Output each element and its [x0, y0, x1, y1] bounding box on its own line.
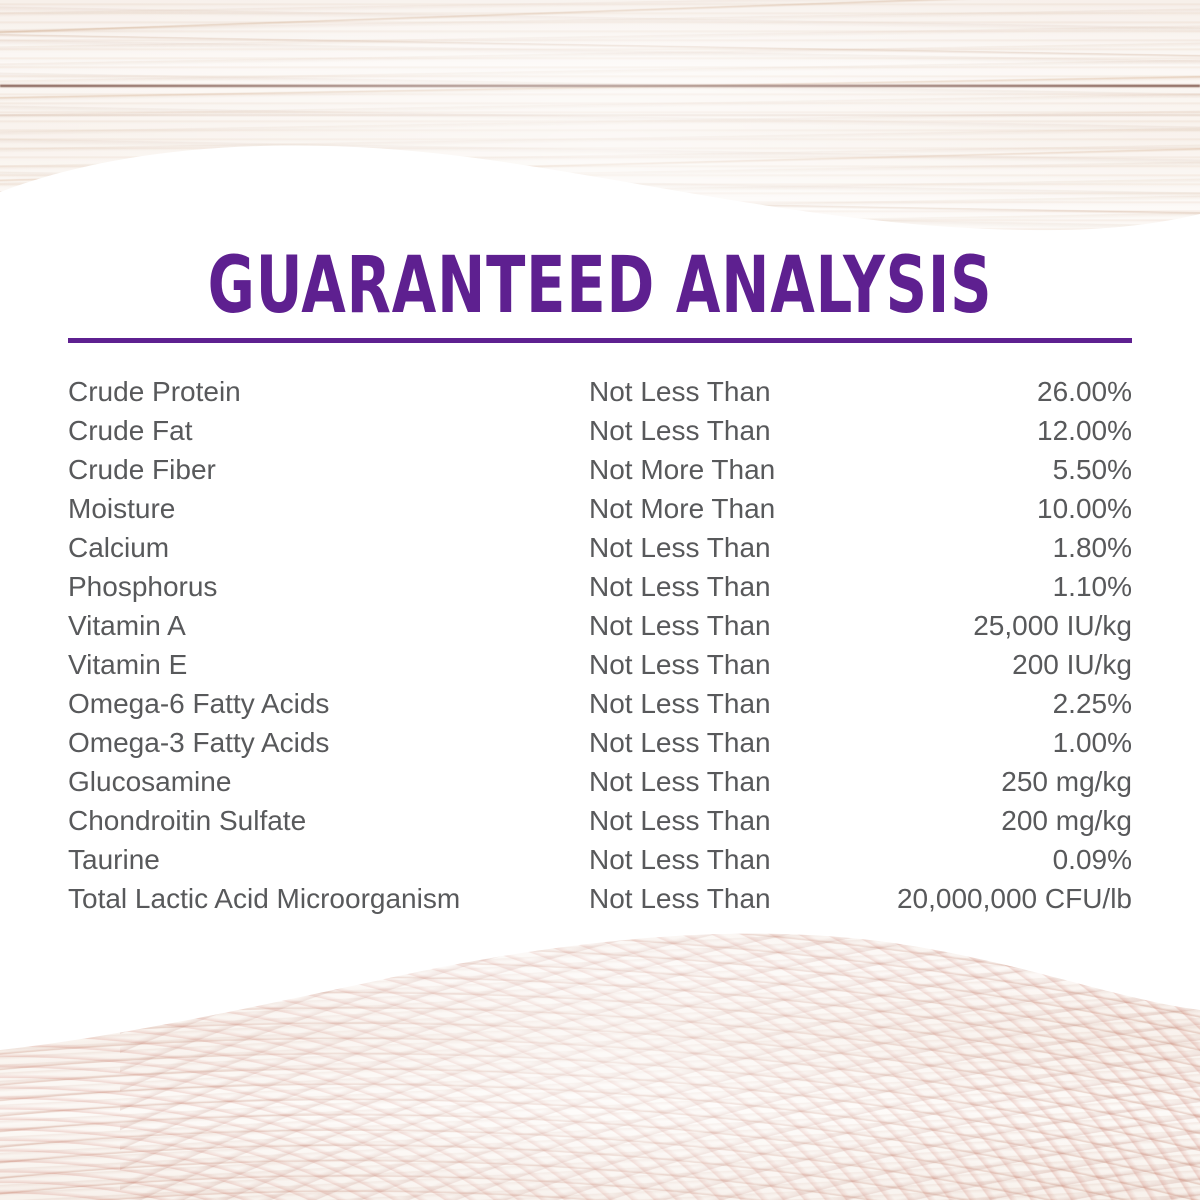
table-row: Omega-3 Fatty AcidsNot Less Than1.00%: [68, 723, 1132, 762]
table-row: Crude FatNot Less Than12.00%: [68, 411, 1132, 450]
nutrient-qualifier: Not Less Than: [589, 840, 879, 879]
table-row: CalciumNot Less Than1.80%: [68, 528, 1132, 567]
nutrient-value: 200 mg/kg: [879, 801, 1132, 840]
table-row: Crude FiberNot More Than5.50%: [68, 450, 1132, 489]
nutrient-qualifier: Not Less Than: [589, 723, 879, 762]
nutrient-qualifier: Not Less Than: [589, 684, 879, 723]
nutrient-name: Phosphorus: [68, 567, 589, 606]
nutrient-name: Crude Fat: [68, 411, 589, 450]
nutrient-name: Omega-3 Fatty Acids: [68, 723, 589, 762]
nutrient-name: Crude Protein: [68, 372, 589, 411]
nutrient-name: Taurine: [68, 840, 589, 879]
nutrient-name: Calcium: [68, 528, 589, 567]
nutrient-value: 5.50%: [879, 450, 1132, 489]
nutrient-value: 1.00%: [879, 723, 1132, 762]
table-row: Total Lactic Acid MicroorganismNot Less …: [68, 879, 1132, 918]
nutrient-value: 2.25%: [879, 684, 1132, 723]
nutrient-value: 0.09%: [879, 840, 1132, 879]
nutrient-value: 200 IU/kg: [879, 645, 1132, 684]
guaranteed-analysis-panel: GUARANTEED ANALYSIS Crude ProteinNot Les…: [0, 0, 1200, 1200]
nutrient-value: 1.80%: [879, 528, 1132, 567]
nutrient-value: 25,000 IU/kg: [879, 606, 1132, 645]
nutrient-qualifier: Not Less Than: [589, 801, 879, 840]
table-row: MoistureNot More Than10.00%: [68, 489, 1132, 528]
nutrient-name: Omega-6 Fatty Acids: [68, 684, 589, 723]
table-row: Omega-6 Fatty AcidsNot Less Than2.25%: [68, 684, 1132, 723]
nutrient-qualifier: Not Less Than: [589, 645, 879, 684]
nutrient-name: Glucosamine: [68, 762, 589, 801]
nutrient-value: 26.00%: [879, 372, 1132, 411]
nutrient-qualifier: Not More Than: [589, 489, 879, 528]
nutrient-name: Vitamin A: [68, 606, 589, 645]
nutrient-value: 12.00%: [879, 411, 1132, 450]
nutrient-qualifier: Not Less Than: [589, 567, 879, 606]
nutrient-name: Crude Fiber: [68, 450, 589, 489]
nutrient-value: 1.10%: [879, 567, 1132, 606]
nutrient-qualifier: Not Less Than: [589, 606, 879, 645]
guaranteed-analysis-table: Crude ProteinNot Less Than26.00%Crude Fa…: [68, 372, 1132, 918]
nutrient-name: Vitamin E: [68, 645, 589, 684]
nutrient-value: 20,000,000 CFU/lb: [879, 879, 1132, 918]
table-row: PhosphorusNot Less Than1.10%: [68, 567, 1132, 606]
nutrient-qualifier: Not Less Than: [589, 879, 879, 918]
table-row: Crude ProteinNot Less Than26.00%: [68, 372, 1132, 411]
nutrient-name: Total Lactic Acid Microorganism: [68, 879, 589, 918]
nutrient-qualifier: Not Less Than: [589, 372, 879, 411]
table-row: Vitamin ENot Less Than200 IU/kg: [68, 645, 1132, 684]
title-divider: [68, 338, 1132, 343]
nutrient-value: 250 mg/kg: [879, 762, 1132, 801]
table-row: TaurineNot Less Than0.09%: [68, 840, 1132, 879]
nutrient-name: Moisture: [68, 489, 589, 528]
nutrient-qualifier: Not Less Than: [589, 762, 879, 801]
table-row: GlucosamineNot Less Than250 mg/kg: [68, 762, 1132, 801]
nutrient-value: 10.00%: [879, 489, 1132, 528]
nutrient-qualifier: Not Less Than: [589, 528, 879, 567]
table-row: Chondroitin SulfateNot Less Than200 mg/k…: [68, 801, 1132, 840]
nutrient-name: Chondroitin Sulfate: [68, 801, 589, 840]
nutrient-qualifier: Not More Than: [589, 450, 879, 489]
page-title: GUARANTEED ANALYSIS: [164, 243, 1036, 329]
table-row: Vitamin ANot Less Than25,000 IU/kg: [68, 606, 1132, 645]
nutrient-qualifier: Not Less Than: [589, 411, 879, 450]
